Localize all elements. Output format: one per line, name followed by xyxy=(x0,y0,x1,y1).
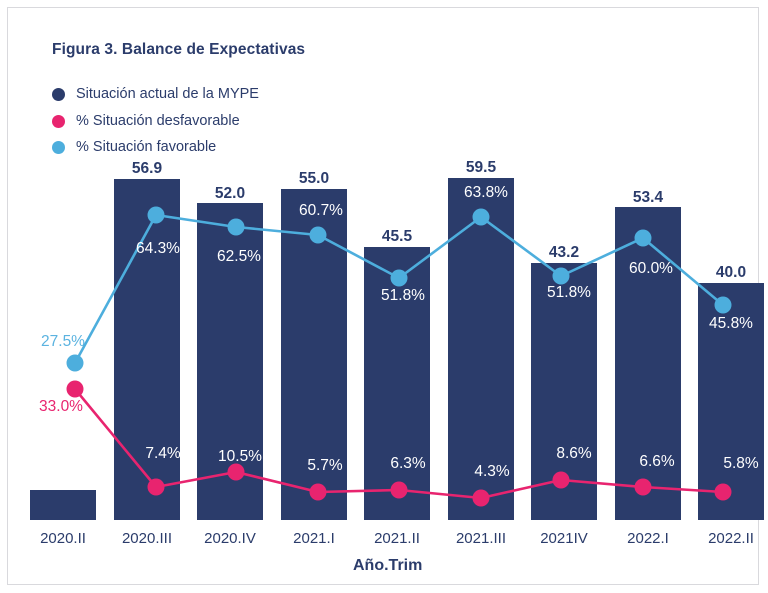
desfavorable-value-label: 4.3% xyxy=(455,463,529,481)
plot-area: 56.952.055.045.559.543.253.440.027.5%64.… xyxy=(8,8,760,586)
bar-value-label: 53.4 xyxy=(615,189,681,207)
bar-value-label: 59.5 xyxy=(448,159,514,177)
desfavorable-value-label: 8.6% xyxy=(537,445,611,463)
x-axis-tick-2021IV: 2021IV xyxy=(522,530,606,547)
favorable-value-label: 60.0% xyxy=(614,260,688,278)
bar-2020.III[interactable] xyxy=(114,179,180,520)
x-axis-tick-2022.II: 2022.II xyxy=(689,530,768,547)
favorable-value-label: 63.8% xyxy=(449,184,523,202)
x-axis-title: Año.Trim xyxy=(353,557,422,575)
x-axis-tick-2021.II: 2021.II xyxy=(355,530,439,547)
favorable-value-label: 27.5% xyxy=(26,333,100,351)
x-axis-tick-2021.I: 2021.I xyxy=(272,530,356,547)
figure-container: Figura 3. Balance de Expectativas Situac… xyxy=(7,7,759,585)
x-axis-tick-2021.III: 2021.III xyxy=(439,530,523,547)
bar-value-label: 52.0 xyxy=(197,185,263,203)
favorable-value-label: 62.5% xyxy=(202,248,276,266)
bar-value-label: 56.9 xyxy=(114,160,180,178)
desfavorable-value-label: 10.5% xyxy=(203,448,277,466)
bar-2020.II[interactable] xyxy=(30,490,96,520)
bar-value-label: 55.0 xyxy=(281,170,347,188)
favorable-value-label: 64.3% xyxy=(121,240,195,258)
desfavorable-value-label: 5.7% xyxy=(288,457,362,475)
x-axis-tick-2020.IV: 2020.IV xyxy=(188,530,272,547)
favorable-value-label: 60.7% xyxy=(284,202,358,220)
x-axis-tick-2020.II: 2020.II xyxy=(21,530,105,547)
bar-value-label: 40.0 xyxy=(698,264,764,282)
favorable-value-label: 51.8% xyxy=(366,287,440,305)
desfavorable-value-label: 7.4% xyxy=(126,445,200,463)
x-axis-tick-2022.I: 2022.I xyxy=(606,530,690,547)
favorable-marker[interactable] xyxy=(67,355,84,372)
x-axis-tick-2020.III: 2020.III xyxy=(105,530,189,547)
favorable-value-label: 51.8% xyxy=(532,284,606,302)
desfavorable-value-label: 6.6% xyxy=(620,453,694,471)
favorable-value-label: 45.8% xyxy=(694,315,768,333)
bar-2022.I[interactable] xyxy=(615,207,681,520)
desfavorable-marker[interactable] xyxy=(67,381,84,398)
desfavorable-value-label: 6.3% xyxy=(371,455,445,473)
desfavorable-value-label: 33.0% xyxy=(24,398,98,416)
bar-value-label: 45.5 xyxy=(364,228,430,246)
desfavorable-value-label: 5.8% xyxy=(704,455,768,473)
bar-value-label: 43.2 xyxy=(531,244,597,262)
